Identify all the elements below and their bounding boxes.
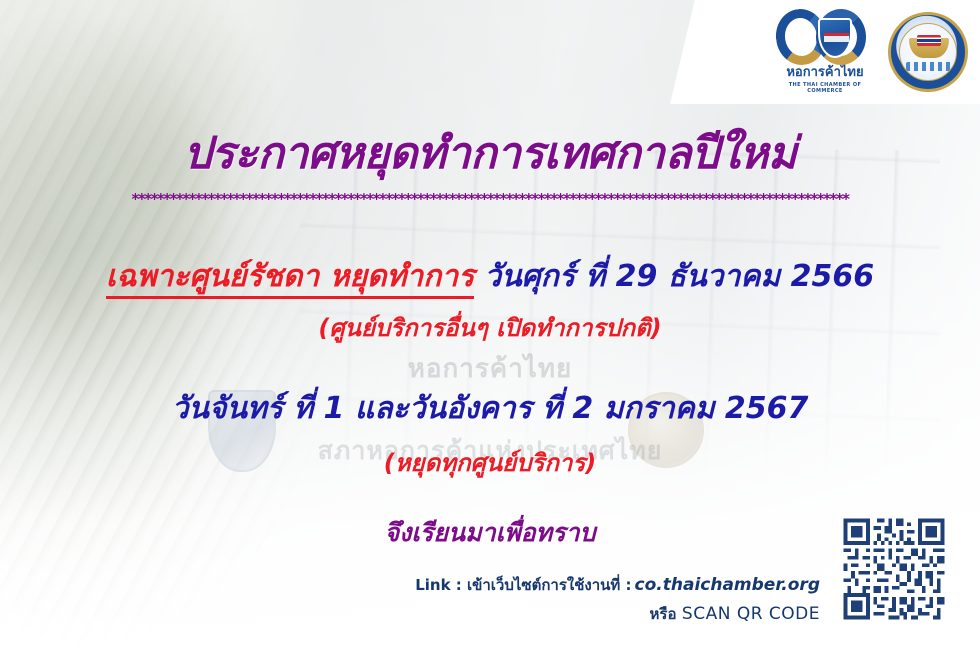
- notice-1-blue-date: วันศุกร์ ที่ 29 ธันวาคม 2566: [484, 259, 874, 294]
- notice-2-blue-date: วันจันทร์ ที่ 1 และวันอังคาร ที่ 2 มกราค…: [0, 385, 980, 432]
- notice-2-note: (หยุดทุกศูนย์บริการ): [0, 443, 980, 482]
- footer-scan-line: หรือ SCAN QR CODE: [380, 602, 820, 626]
- page-title: ประกาศหยุดทำการเทศกาลปีใหม่: [0, 118, 980, 188]
- announcement-content: ประกาศหยุดทำการเทศกาลปีใหม่ ************…: [0, 0, 980, 655]
- footer-or-label: หรือ: [650, 605, 677, 623]
- footer-scan-label: SCAN QR CODE: [682, 604, 820, 624]
- notice-1-note: (ศูนย์บริการอื่นๆ เปิดทำการปกติ): [0, 308, 980, 347]
- footer-url[interactable]: co.thaichamber.org: [635, 575, 820, 595]
- qr-code[interactable]: [838, 513, 950, 625]
- announcement-poster: หอการค้าไทย สภาหอการค้าแห่งประเทศไทย หอก…: [0, 0, 980, 655]
- divider: ****************************************…: [92, 190, 888, 208]
- closing-statement: จึงเรียนมาเพื่อทราบ: [0, 513, 980, 553]
- footer-link-label: Link : เข้าเว็บไซต์การใช้งานที่ :: [415, 576, 631, 594]
- footer-link-line: Link : เข้าเว็บไซต์การใช้งานที่ :co.thai…: [380, 573, 820, 597]
- notice-1-main-line: เฉพาะศูนย์รัชดา หยุดทำการวันศุกร์ ที่ 29…: [0, 253, 980, 300]
- notice-1-red-text: เฉพาะศูนย์รัชดา หยุดทำการ: [106, 259, 474, 299]
- footer-link-block: Link : เข้าเว็บไซต์การใช้งานที่ :co.thai…: [380, 573, 820, 626]
